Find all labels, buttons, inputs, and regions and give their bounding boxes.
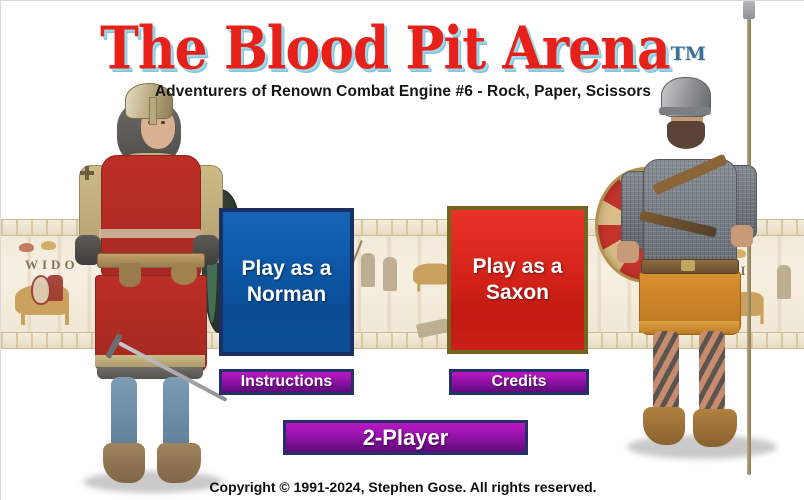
two-player-button[interactable]: 2-Player — [283, 420, 528, 455]
tapestry-soldier — [383, 257, 397, 291]
play-as-norman-label: Play as a Norman — [242, 256, 332, 307]
left-hand — [617, 241, 639, 263]
left-hose — [111, 377, 137, 449]
copyright-notice: Copyright © 1991-2024, Stephen Gose. All… — [1, 479, 804, 495]
game-title: The Blood Pit Arena — [100, 19, 670, 78]
left-leg-wrapping — [653, 331, 679, 417]
saxon-label-line2: Saxon — [486, 281, 549, 304]
right-leg-wrapping — [699, 331, 725, 417]
spear-tip — [743, 0, 755, 19]
tapestry-ornament — [19, 243, 34, 252]
helmet-nasal-guard — [149, 97, 157, 125]
tunic-hem — [639, 321, 739, 333]
norman-knight-illustration — [53, 83, 243, 495]
instructions-button[interactable]: Instructions — [219, 369, 354, 395]
saxon-warrior-illustration — [599, 73, 781, 495]
beard — [667, 121, 705, 149]
tapestry-horse — [413, 264, 451, 285]
left-boot — [643, 407, 685, 445]
app-screen: WIDO ANGLI — [0, 0, 804, 500]
play-as-norman-button[interactable]: Play as a Norman — [219, 208, 354, 356]
cross-emblem — [80, 166, 94, 180]
left-boot — [103, 443, 145, 483]
belt-pouch — [119, 263, 141, 287]
tapestry-soldier — [361, 253, 375, 287]
right-hose — [163, 377, 189, 449]
norman-label-line2: Norman — [247, 283, 326, 306]
credits-button[interactable]: Credits — [449, 369, 589, 395]
play-as-saxon-label: Play as a Saxon — [473, 254, 563, 305]
belt-satchel — [171, 263, 197, 285]
norman-label-line1: Play as a — [242, 257, 332, 280]
saxon-label-line1: Play as a — [473, 255, 563, 278]
title-block: The Blood Pit ArenaTM — [1, 23, 804, 75]
surcoat-stripe — [99, 229, 201, 238]
game-subtitle: Adventurers of Renown Combat Engine #6 -… — [1, 83, 804, 101]
helmet-rim — [659, 107, 711, 115]
tapestry-kite-shield — [31, 275, 51, 305]
right-hand — [731, 225, 753, 247]
trademark-symbol: TM — [671, 43, 706, 65]
play-as-saxon-button[interactable]: Play as a Saxon — [447, 206, 588, 354]
belt-buckle — [681, 260, 695, 271]
